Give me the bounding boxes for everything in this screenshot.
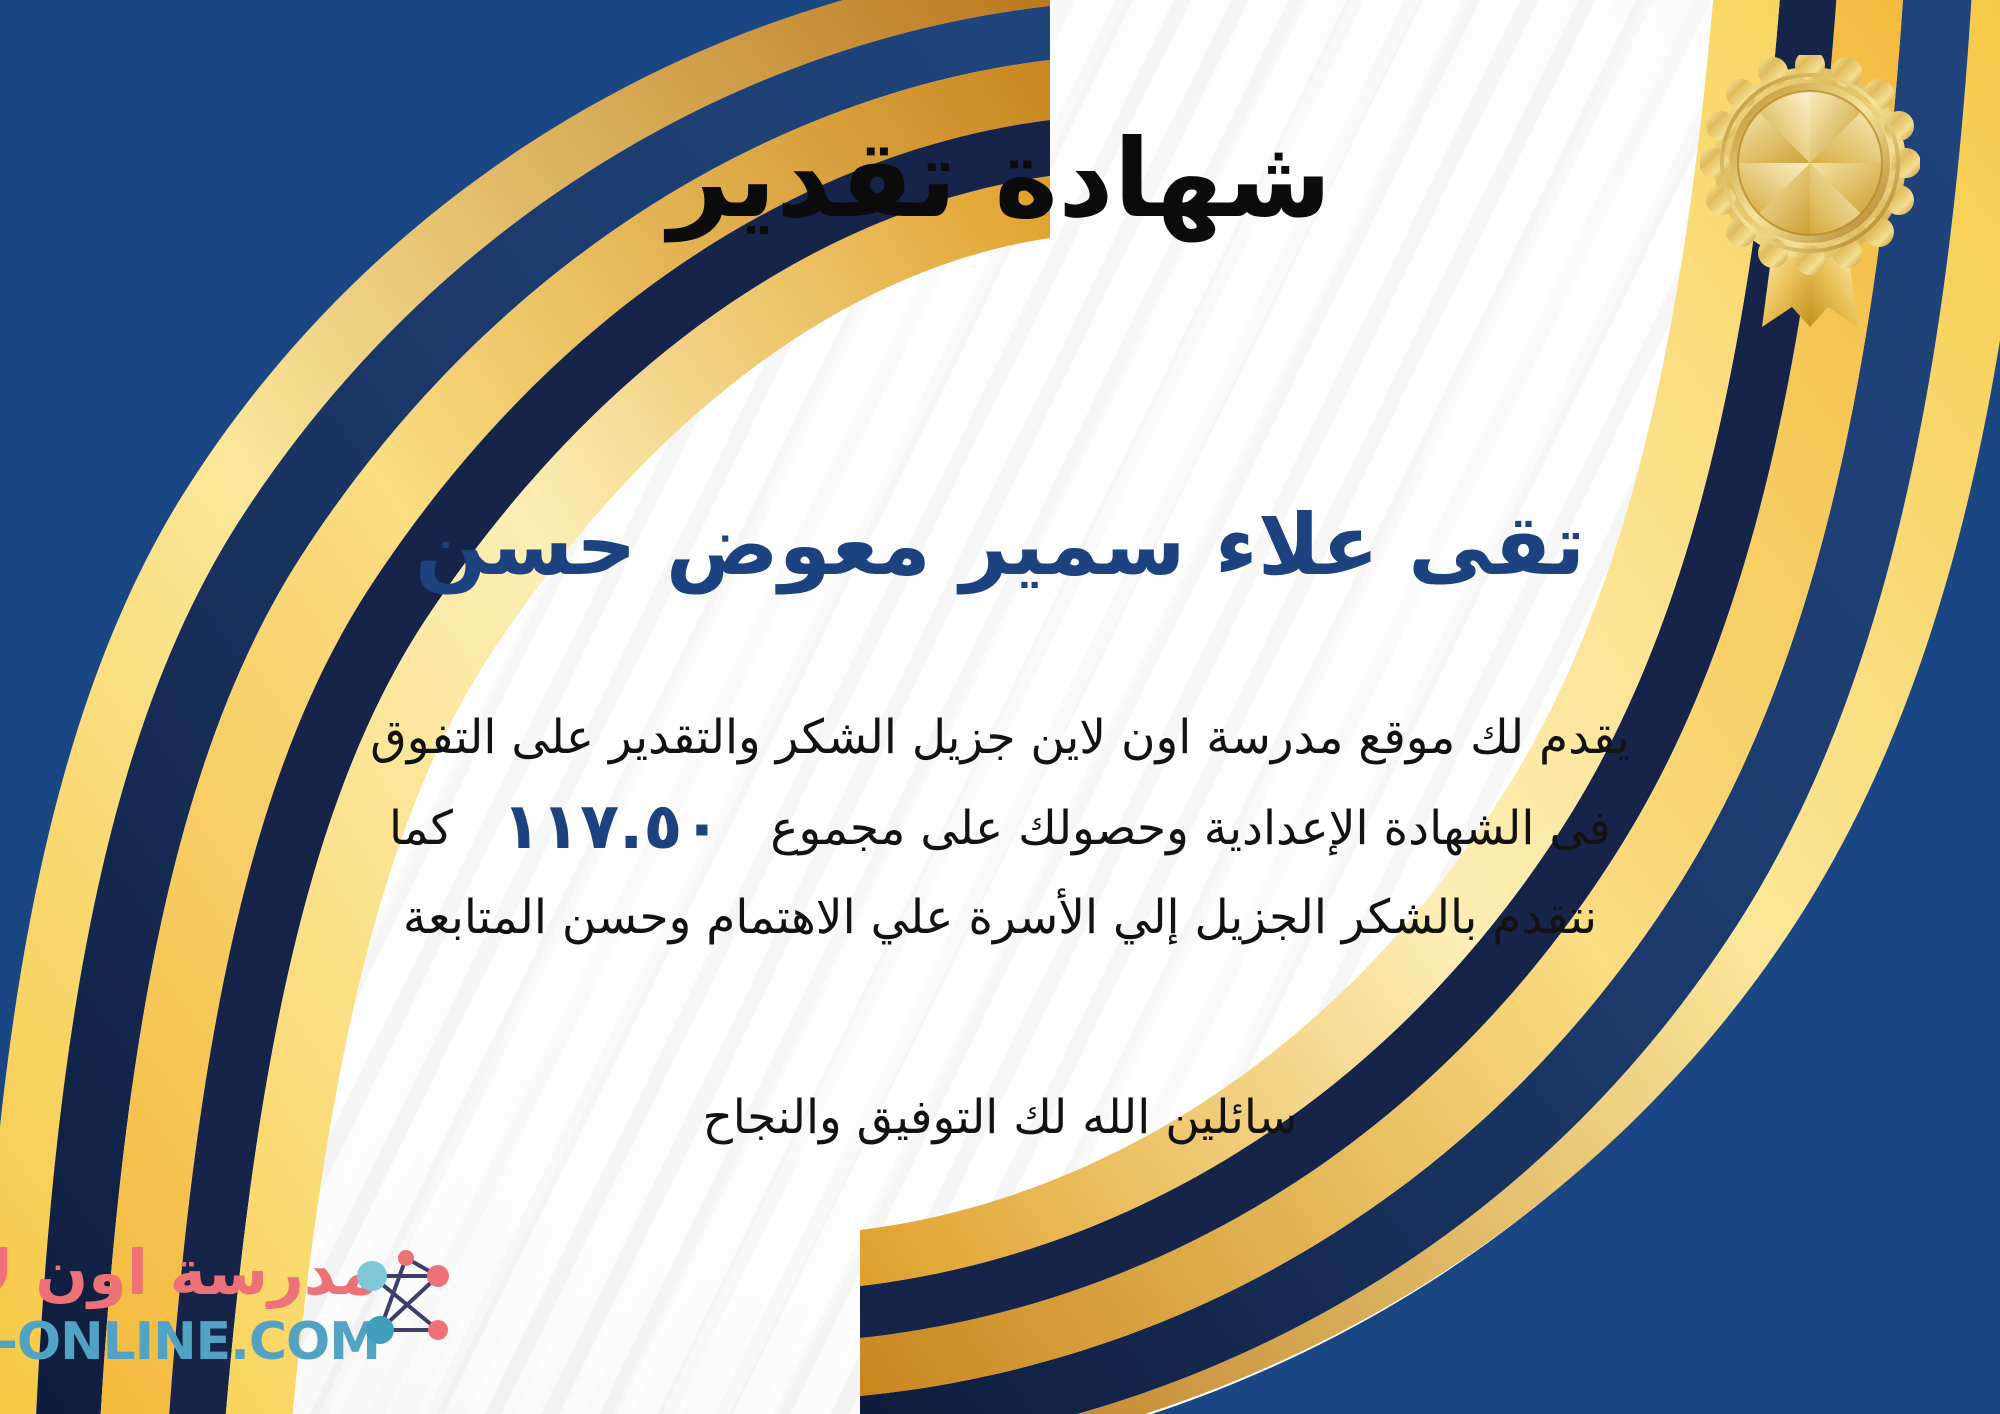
body-line-3: نتقدم بالشكر الجزيل إلي الأسرة علي الاهت… [60, 880, 1940, 956]
recipient-name: تقى علاء سمير معوض حسن [0, 495, 2000, 596]
body-line-2-prefix: فى الشهادة الإعدادية وحصولك على مجموع [770, 801, 1611, 856]
certificate-title: شهادة تقدير [0, 118, 2000, 242]
certificate-canvas: شهادة تقدير تقى علاء سمير معوض حسن يقدم … [0, 0, 2000, 1414]
body-line-2-suffix: كما [389, 801, 453, 856]
network-nodes-icon [346, 1242, 466, 1362]
certificate-body: يقدم لك موقع مدرسة اون لاين جزيل الشكر و… [60, 700, 1940, 956]
score-value: ١١٧.٥٠ [468, 790, 756, 864]
logo-arabic-name: مدرسة اون لاين [0, 1236, 378, 1309]
body-line-2: فى الشهادة الإعدادية وحصولك على مجموع ١١… [60, 776, 1940, 880]
site-logo[interactable]: مدرسة اون لاين MADRSA-ONLINE.COM [28, 1234, 488, 1384]
body-line-1: يقدم لك موقع مدرسة اون لاين جزيل الشكر و… [60, 700, 1940, 776]
closing-line: سائلين الله لك التوفيق والنجاح [0, 1090, 2000, 1145]
logo-url-text: MADRSA-ONLINE.COM [0, 1312, 380, 1372]
